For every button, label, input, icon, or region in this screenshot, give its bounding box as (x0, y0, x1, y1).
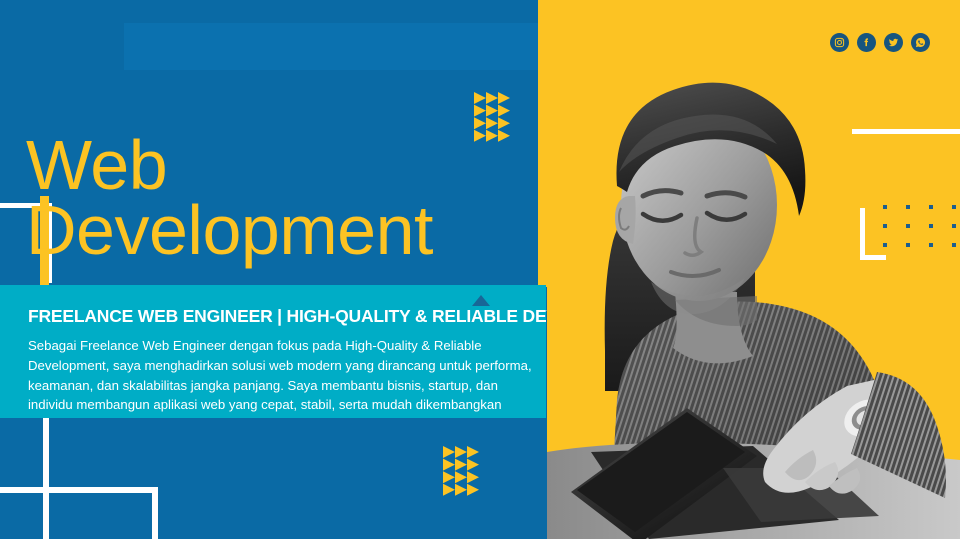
top-accent-rectangle (124, 23, 548, 70)
white-grid-vertical-lower-2 (152, 487, 158, 539)
white-grid-vertical-lower (43, 418, 49, 539)
small-triangle-marker (472, 295, 490, 306)
left-blue-panel: Web Development (0, 0, 547, 539)
triangle-grid-icon-top (474, 92, 522, 142)
social-links[interactable] (830, 33, 930, 52)
banner-description: Sebagai Freelance Web Engineer dengan fo… (28, 336, 540, 415)
promotional-banner: Web Development (0, 0, 960, 539)
banner-title: Web Development (26, 133, 546, 263)
right-yellow-panel (547, 0, 960, 539)
triangle-grid-icon-bottom (443, 446, 491, 496)
instagram-icon[interactable] (830, 33, 849, 52)
whatsapp-icon[interactable] (911, 33, 930, 52)
hero-photo (547, 0, 960, 539)
banner-kicker: FREELANCE WEB ENGINEER | HIGH-QUALITY & … (28, 306, 540, 327)
twitter-icon[interactable] (884, 33, 903, 52)
facebook-icon[interactable] (857, 33, 876, 52)
white-grid-horizontal-lower (0, 487, 158, 493)
